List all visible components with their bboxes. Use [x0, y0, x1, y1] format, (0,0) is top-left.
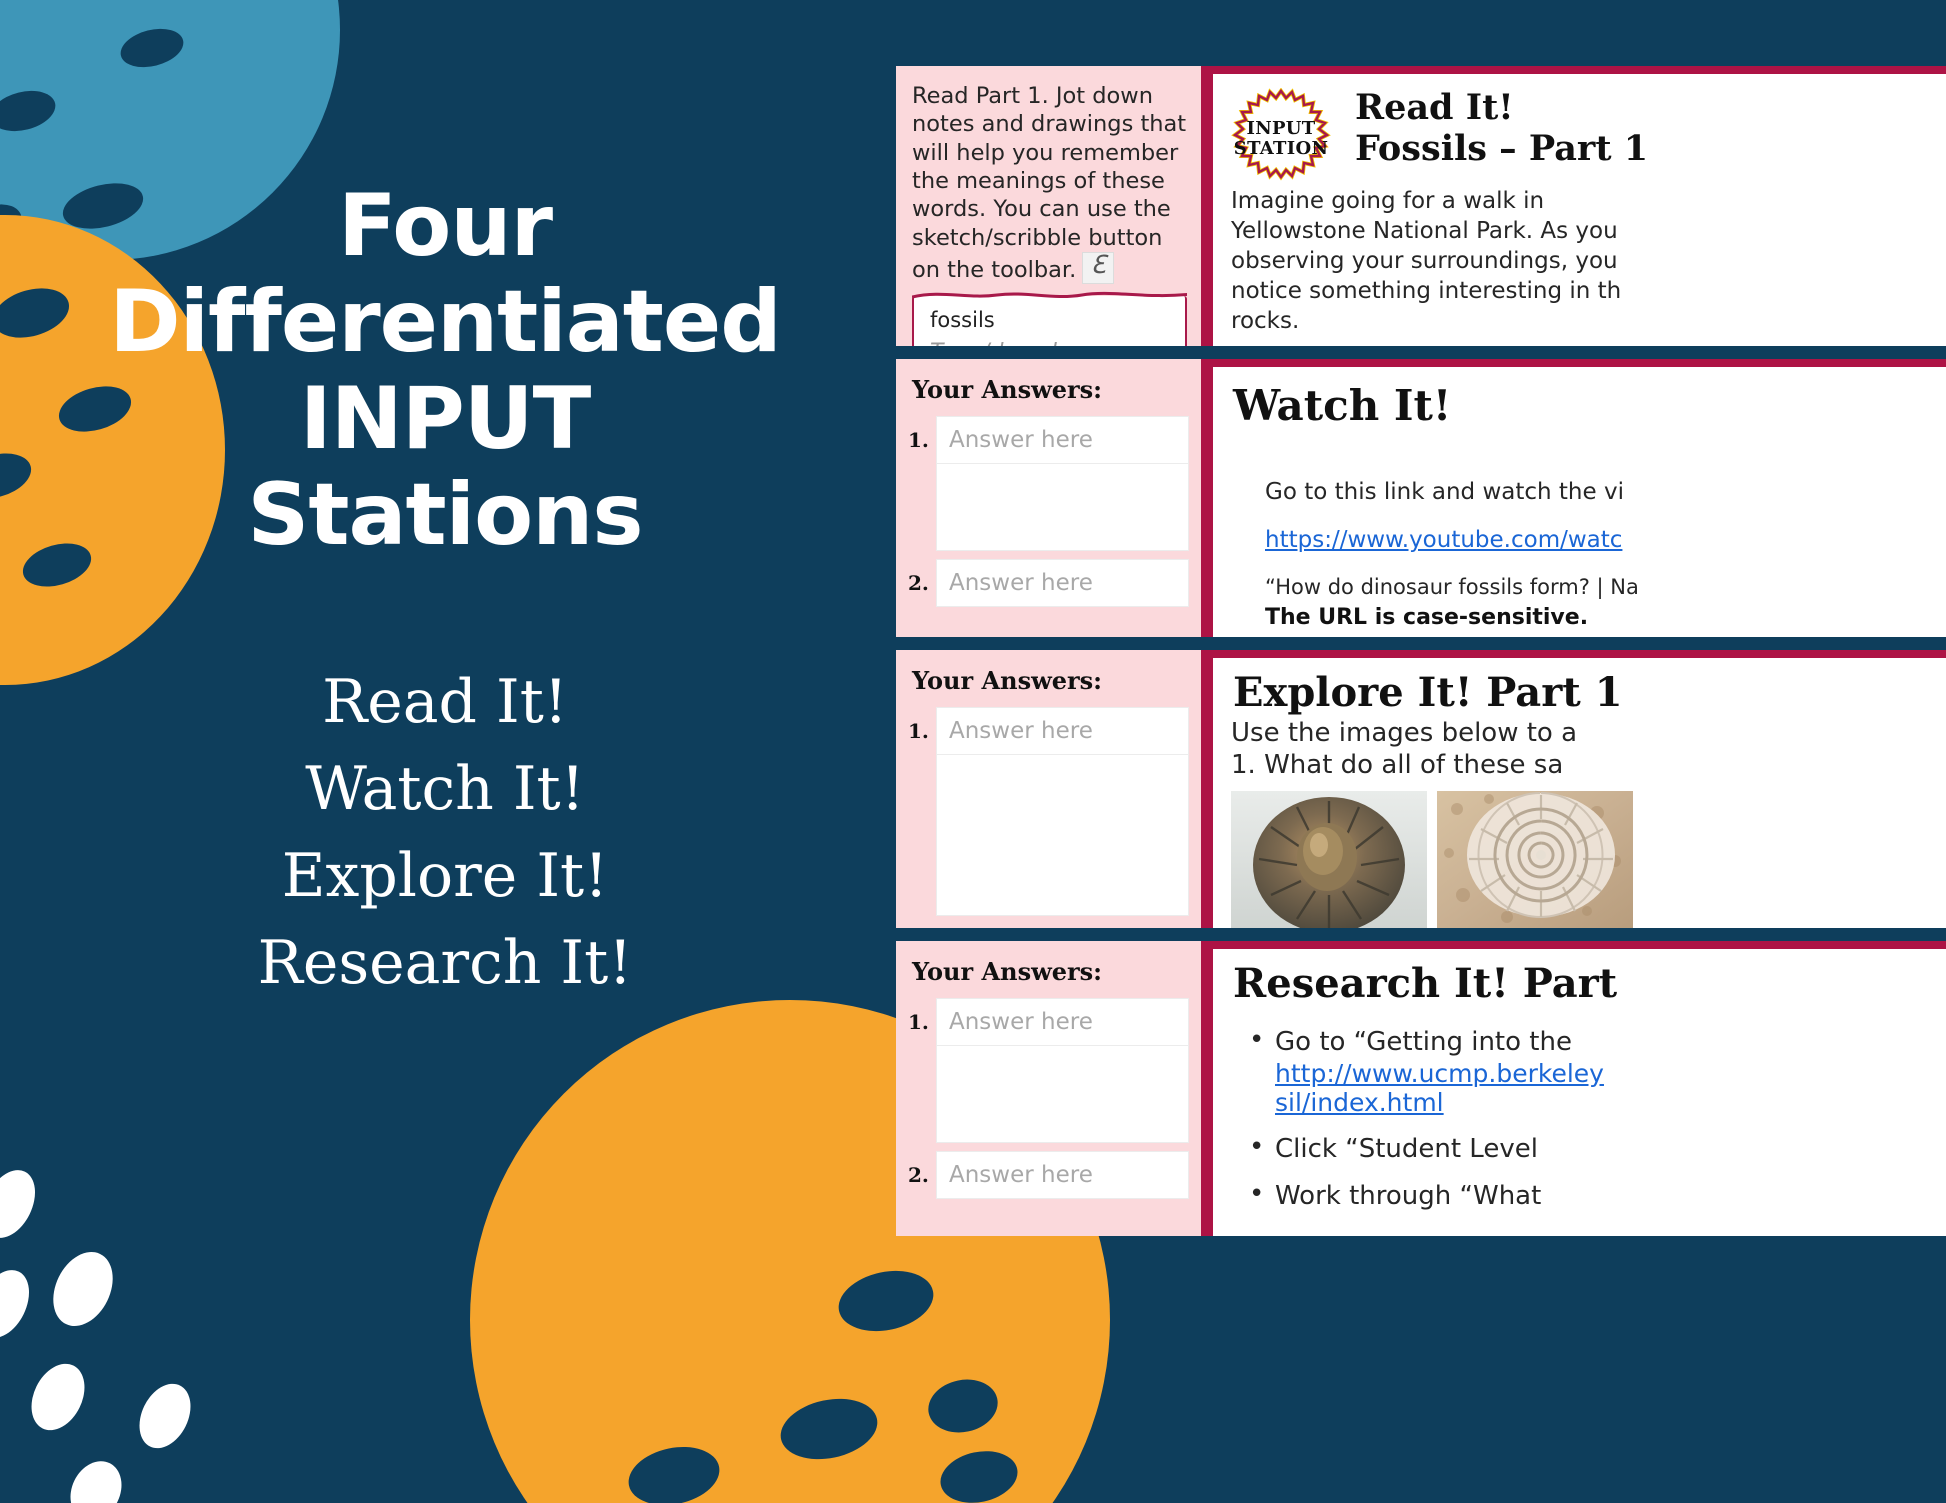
- research-it-answers-panel: Your Answers: 1. Answer here 2. Answer h…: [896, 941, 1201, 1236]
- explore-it-heading: Explore It! Part 1: [1233, 672, 1928, 714]
- watch-it-content: Watch It! Go to this link and watch the …: [1201, 359, 1946, 637]
- explore-it-content: Explore It! Part 1 Use the images below …: [1201, 650, 1946, 928]
- answer-input-1[interactable]: Answer here: [936, 416, 1189, 464]
- watch-it-lead: Go to this link and watch the vi: [1265, 479, 1928, 505]
- answer-number: 1.: [908, 998, 936, 1034]
- read-it-passage-line-3: observing your surroundings, you: [1231, 247, 1928, 277]
- watch-it-heading: Watch It!: [1233, 385, 1928, 427]
- research-step-1-link-line2[interactable]: sil/index.html: [1275, 1088, 1928, 1118]
- vocab-term: fossils: [930, 308, 1169, 332]
- scribble-icon[interactable]: ℇ: [1082, 252, 1114, 284]
- vocab-note-box[interactable]: fossils Type/draw here.: [912, 296, 1187, 346]
- answer-number: 1.: [908, 707, 936, 743]
- spiral-shell-fossil-image: [1437, 791, 1633, 928]
- explore-it-answers-heading: Your Answers:: [896, 650, 1201, 707]
- research-step-1-text: Go to “Getting into the: [1275, 1027, 1572, 1057]
- read-it-passage-line-1: Imagine going for a walk in: [1231, 187, 1928, 217]
- research-it-steps: Go to “Getting into the http://www.ucmp.…: [1245, 1027, 1928, 1213]
- watch-it-citation: “How do dinosaur fossils form? | Na: [1265, 575, 1928, 599]
- read-it-heading-line-1: Read It!: [1355, 88, 1928, 129]
- worksheet-card-read-it[interactable]: Read Part 1. Jot down notes and drawings…: [896, 66, 1946, 346]
- title-line-4: Stations: [65, 467, 825, 563]
- watch-it-answers-panel: Your Answers: 1. Answer here 2. Answer h…: [896, 359, 1201, 637]
- hero-column: Four Differentiated INPUT Stations Read …: [0, 0, 890, 1503]
- read-it-passage-line-5: rocks.: [1231, 307, 1928, 337]
- slide-canvas: Four Differentiated INPUT Stations Read …: [0, 0, 1946, 1503]
- read-it-instructions-text: Read Part 1. Jot down notes and drawings…: [912, 83, 1186, 283]
- research-step-1-link[interactable]: http://www.ucmp.berkeley: [1275, 1059, 1928, 1089]
- station-list-item-watch: Watch It!: [65, 746, 825, 833]
- research-it-heading: Research It! Part: [1233, 963, 1928, 1005]
- answer-input-2[interactable]: Answer here: [936, 1151, 1189, 1199]
- research-step-2-text: Click “Student Level: [1275, 1134, 1538, 1164]
- station-list-item-read: Read It!: [65, 659, 825, 746]
- worksheet-card-explore-it[interactable]: Your Answers: 1. Answer here Explore It!…: [896, 650, 1946, 928]
- explore-it-directions: Use the images below to a 1. What do all…: [1231, 718, 1928, 781]
- answer-row: 2. Answer here: [896, 559, 1201, 607]
- explore-it-directions-line-2: 1. What do all of these sa: [1231, 750, 1928, 782]
- station-list-item-research: Research It!: [65, 920, 825, 1007]
- answer-input-1-overflow[interactable]: [936, 1046, 1189, 1143]
- answer-input-2[interactable]: Answer here: [936, 559, 1189, 607]
- explore-it-image-row: [1231, 791, 1928, 928]
- title-line-3: INPUT: [65, 371, 825, 467]
- read-it-heading: Read It! Fossils – Part 1: [1355, 88, 1928, 169]
- watch-it-video-link[interactable]: https://www.youtube.com/watc: [1265, 527, 1928, 553]
- read-it-notes-panel: Read Part 1. Jot down notes and drawings…: [896, 66, 1201, 346]
- page-title: Four Differentiated INPUT Stations: [65, 178, 825, 563]
- read-it-passage-line-4: notice something interesting in th: [1231, 277, 1928, 307]
- badge-line-2: STATION: [1234, 138, 1328, 159]
- answer-row: 2. Answer here: [896, 1151, 1201, 1199]
- worksheet-card-watch-it[interactable]: Your Answers: 1. Answer here 2. Answer h…: [896, 359, 1946, 637]
- worksheet-card-research-it[interactable]: Your Answers: 1. Answer here 2. Answer h…: [896, 941, 1946, 1236]
- explore-it-answers-panel: Your Answers: 1. Answer here: [896, 650, 1201, 928]
- read-it-passage: Imagine going for a walk in Yellowstone …: [1231, 187, 1928, 336]
- answer-input-1[interactable]: Answer here: [936, 998, 1189, 1046]
- read-it-content: INPUT STATION Read It! Fossils – Part 1 …: [1201, 66, 1946, 346]
- title-line-2: Differentiated: [65, 274, 825, 370]
- read-it-passage-line-2: Yellowstone National Park. As you: [1231, 217, 1928, 247]
- research-step-2: Click “Student Level: [1245, 1134, 1928, 1166]
- station-list: Read It! Watch It! Explore It! Research …: [65, 659, 825, 1007]
- answer-row: 1. Answer here: [896, 998, 1201, 1046]
- answer-number: 2.: [908, 559, 936, 595]
- vocab-input-placeholder[interactable]: Type/draw here.: [930, 340, 1169, 346]
- ammonite-fossil-image: [1231, 791, 1427, 928]
- answer-row: 1. Answer here: [896, 707, 1201, 755]
- title-line-1: Four: [65, 178, 825, 274]
- input-station-badge-icon: INPUT STATION: [1229, 88, 1333, 192]
- badge-line-1: INPUT: [1247, 118, 1316, 139]
- answer-row: 1. Answer here: [896, 416, 1201, 464]
- watch-it-case-note: The URL is case-sensitive.: [1265, 605, 1928, 630]
- watch-it-answers-heading: Your Answers:: [896, 359, 1201, 416]
- wavy-top-border: [912, 289, 1187, 299]
- answer-input-1[interactable]: Answer here: [936, 707, 1189, 755]
- research-step-3-text: Work through “What: [1275, 1181, 1541, 1211]
- station-list-item-explore: Explore It!: [65, 833, 825, 920]
- read-it-instructions: Read Part 1. Jot down notes and drawings…: [912, 82, 1187, 284]
- answer-input-1-overflow[interactable]: [936, 464, 1189, 551]
- badge-label: INPUT STATION: [1229, 119, 1333, 159]
- answer-number: 1.: [908, 416, 936, 452]
- explore-it-directions-line-1: Use the images below to a: [1231, 718, 1928, 750]
- research-it-content: Research It! Part Go to “Getting into th…: [1201, 941, 1946, 1236]
- answer-input-1-overflow[interactable]: [936, 755, 1189, 916]
- read-it-heading-line-2: Fossils – Part 1: [1355, 129, 1928, 170]
- research-step-1: Go to “Getting into the http://www.ucmp.…: [1245, 1027, 1928, 1118]
- answer-number: 2.: [908, 1151, 936, 1187]
- worksheet-preview: Read Part 1. Jot down notes and drawings…: [896, 66, 1946, 1503]
- research-step-3: Work through “What: [1245, 1181, 1928, 1213]
- research-it-answers-heading: Your Answers:: [896, 941, 1201, 998]
